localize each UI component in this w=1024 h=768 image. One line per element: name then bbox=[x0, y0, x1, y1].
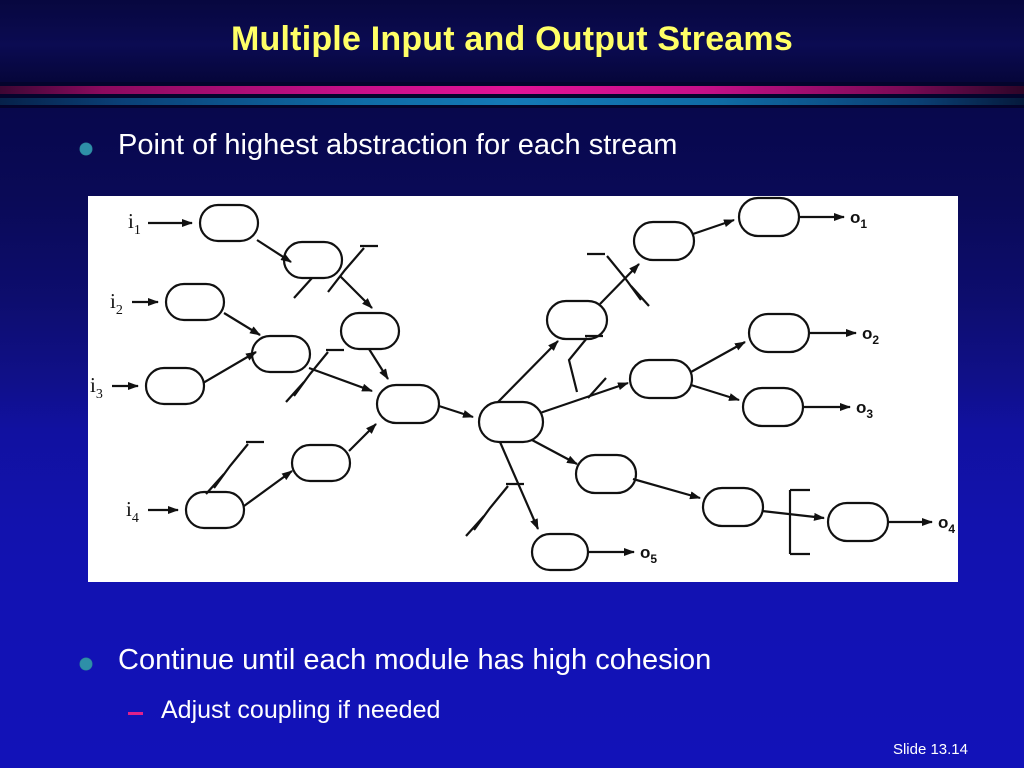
dataflow-diagram-svg: i1 i2 i3 i4 o1 o2 o3 o4 o5 bbox=[88, 196, 958, 582]
diagram-image: i1 i2 i3 i4 o1 o2 o3 o4 o5 bbox=[88, 196, 958, 582]
slide-number: Slide 13.14 bbox=[893, 741, 968, 758]
divider bbox=[0, 82, 1024, 108]
divider-magenta-stripe bbox=[0, 86, 1024, 94]
bullet-dot-icon bbox=[80, 658, 92, 670]
sub-bullet-item-1: Adjust coupling if needed bbox=[128, 695, 440, 725]
bullet-dot-icon bbox=[80, 143, 92, 155]
page-title: Multiple Input and Output Streams bbox=[0, 20, 1024, 59]
bullet-item-1: Point of highest abstraction for each st… bbox=[80, 128, 677, 163]
sub-bullet-label-1: Adjust coupling if needed bbox=[161, 695, 440, 725]
bullet-item-2: Continue until each module has high cohe… bbox=[80, 643, 711, 678]
title-band: Multiple Input and Output Streams bbox=[0, 0, 1024, 82]
bullet-label-1: Point of highest abstraction for each st… bbox=[118, 128, 677, 163]
dash-marker-icon bbox=[128, 712, 143, 715]
bullet-label-2: Continue until each module has high cohe… bbox=[118, 643, 711, 678]
divider-blue-stripe bbox=[0, 98, 1024, 105]
slide-canvas: Multiple Input and Output Streams Point … bbox=[0, 0, 1024, 768]
